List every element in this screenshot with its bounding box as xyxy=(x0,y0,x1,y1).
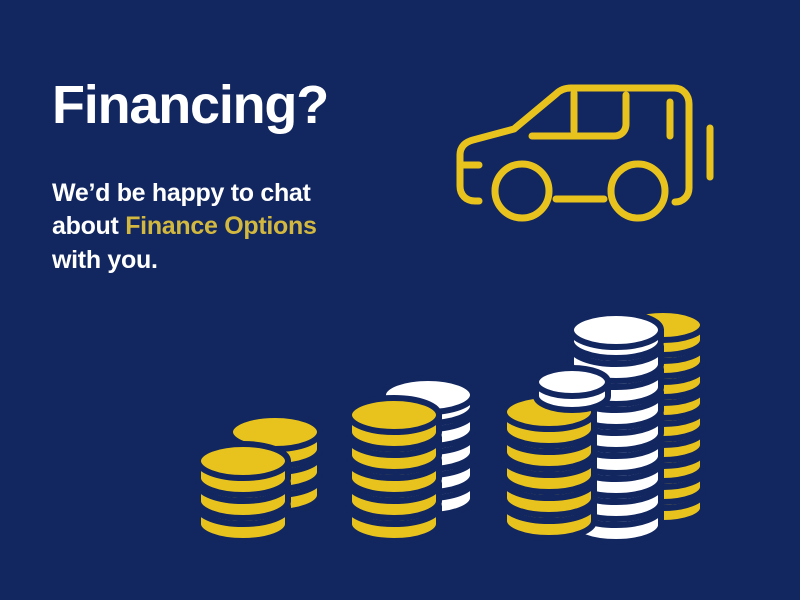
body-copy: We’d be happy to chat about Finance Opti… xyxy=(52,133,392,277)
financing-promo-banner: Financing? We’d be happy to chat about F… xyxy=(0,0,800,600)
body-line-2-prefix: about xyxy=(52,212,125,240)
coin-stack-large xyxy=(498,286,718,536)
coin-stacks-illustration xyxy=(180,266,740,536)
coin-stack-small xyxy=(190,411,330,536)
finance-options-highlight: Finance Options xyxy=(125,212,316,240)
suv-icon xyxy=(448,76,738,226)
text-block: Financing? We’d be happy to chat about F… xyxy=(52,78,392,277)
coin-stack-medium xyxy=(343,376,483,536)
body-line-3: with you. xyxy=(52,246,158,274)
body-line-1: We’d be happy to chat xyxy=(52,179,311,207)
page-title: Financing? xyxy=(52,78,392,133)
